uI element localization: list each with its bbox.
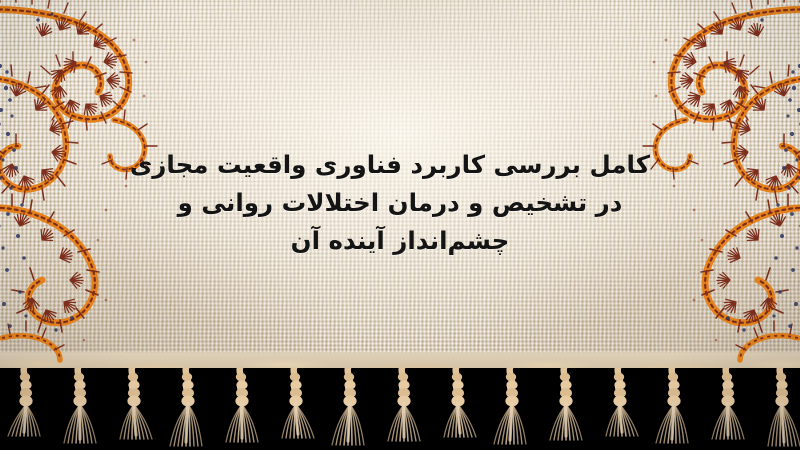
tassel-fringe: [0, 368, 800, 450]
tassel: [330, 368, 370, 448]
tassel: [492, 368, 532, 448]
tassel: [600, 368, 640, 448]
tassel: [6, 368, 46, 448]
tassel: [114, 368, 154, 448]
tassel: [438, 368, 478, 448]
tassel: [546, 368, 586, 448]
tassel: [384, 368, 424, 448]
tassel: [708, 368, 748, 448]
title-line-3: چشم‌انداز آینده آن: [150, 222, 650, 260]
tassel: [276, 368, 316, 448]
tassel: [762, 368, 800, 448]
tassel: [60, 368, 100, 448]
tassel: [654, 368, 694, 448]
title-line-2: در تشخیص و درمان اختلالات روانی و: [150, 184, 650, 222]
slide-title: کامل بررسی کاربرد فناوری واقعیت مجازی در…: [150, 146, 650, 260]
tassel: [168, 368, 208, 448]
title-line-1: کامل بررسی کاربرد فناوری واقعیت مجازی: [150, 146, 650, 184]
slide-canvas: کامل بررسی کاربرد فناوری واقعیت مجازی در…: [0, 0, 800, 450]
tassel: [222, 368, 262, 448]
